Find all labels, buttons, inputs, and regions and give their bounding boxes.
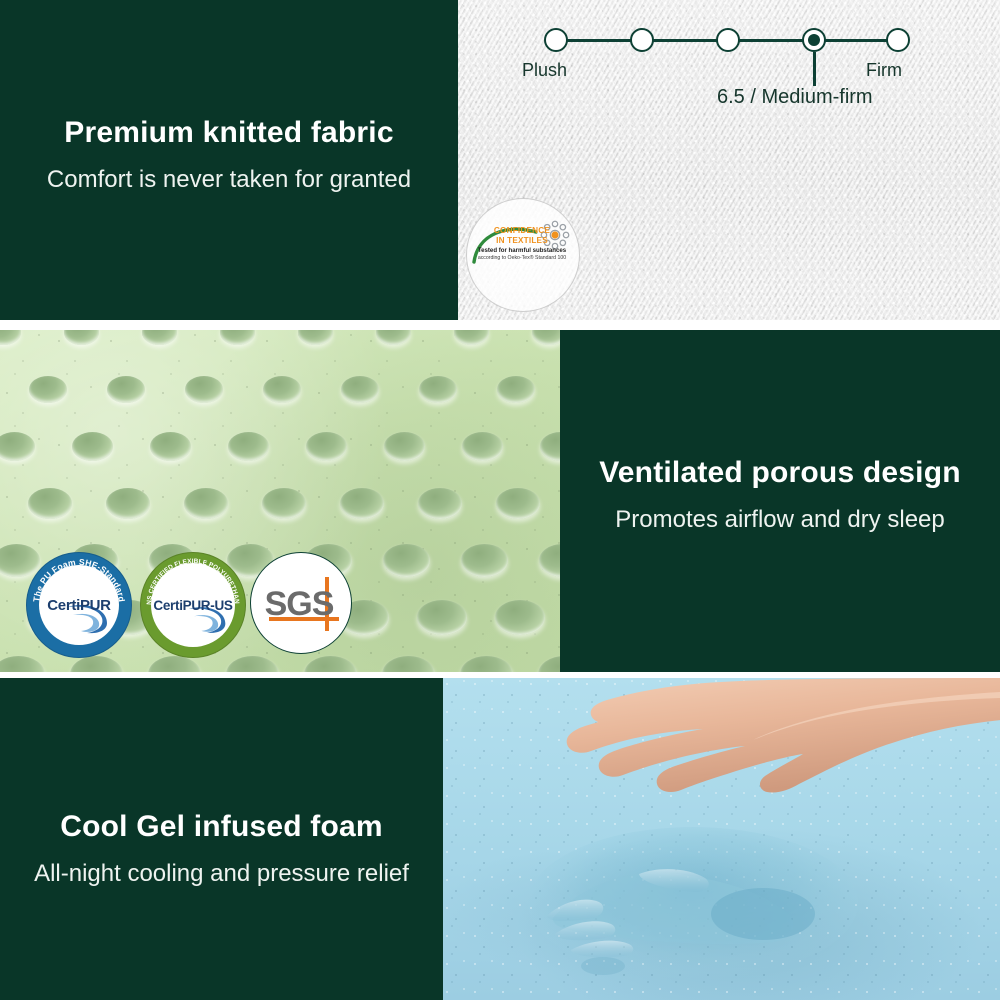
scale-dot-1[interactable] bbox=[544, 28, 568, 52]
foam-hole bbox=[496, 488, 540, 519]
scale-dot-core bbox=[808, 34, 820, 46]
foam-hole bbox=[263, 376, 301, 403]
foam-hole bbox=[382, 656, 435, 672]
foam-hole bbox=[417, 600, 467, 635]
scale-leader-line bbox=[813, 52, 816, 86]
foam-hole bbox=[70, 656, 123, 672]
panel-cool-gel-infused-foam: Cool Gel infused foam All-night cooling … bbox=[0, 678, 1000, 1000]
firmness-scale: Plush Firm 6.5 / Medium-firm bbox=[458, 0, 1000, 120]
fabric-headline: Premium knitted fabric bbox=[64, 116, 393, 149]
scale-label-plush: Plush bbox=[522, 60, 567, 81]
foam-hole bbox=[184, 488, 228, 519]
foam-hole bbox=[72, 432, 113, 461]
foam-hole bbox=[495, 600, 545, 635]
porous-subline: Promotes airflow and dry sleep bbox=[615, 506, 944, 533]
certipur-us-face: CertiPUR-US bbox=[151, 563, 235, 647]
foam-hole bbox=[28, 488, 72, 519]
sgs-mark: SGS bbox=[251, 553, 351, 653]
certipur-badge: The PU Foam SHE-Standard by Europur AISB… bbox=[26, 552, 132, 658]
svg-text:SGS: SGS bbox=[265, 585, 334, 623]
foam-hole bbox=[462, 432, 503, 461]
scale-dot-4-selected[interactable] bbox=[802, 28, 826, 52]
foam-hole bbox=[460, 656, 513, 672]
foam-hole bbox=[142, 330, 177, 345]
porous-headline: Ventilated porous design bbox=[599, 456, 961, 489]
foam-hole bbox=[262, 488, 306, 519]
foam-hole bbox=[226, 656, 279, 672]
scale-dot-3[interactable] bbox=[716, 28, 740, 52]
foam-hole bbox=[106, 488, 150, 519]
foam-hole bbox=[304, 656, 357, 672]
oeko-line-4: according to Oeko-Tex® Standard 100 bbox=[472, 255, 572, 262]
fabric-subline: Comfort is never taken for granted bbox=[47, 166, 411, 193]
gel-subline: All-night cooling and pressure relief bbox=[34, 860, 409, 887]
foam-hole bbox=[384, 432, 425, 461]
foam-hole bbox=[107, 376, 145, 403]
oeko-tex-badge: CONFIDENCE IN TEXTILES Tested for harmfu… bbox=[466, 216, 578, 290]
foam-hole bbox=[539, 544, 560, 577]
foam-hole bbox=[298, 330, 333, 345]
oeko-line-2: IN TEXTILES bbox=[472, 236, 572, 246]
fabric-text-panel: Premium knitted fabric Comfort is never … bbox=[0, 0, 458, 320]
oeko-line-3: Tested for harmful substances bbox=[472, 247, 572, 255]
foam-hole bbox=[376, 330, 411, 345]
foam-hole bbox=[29, 376, 67, 403]
porous-text-panel: Ventilated porous design Promotes airflo… bbox=[560, 330, 1000, 672]
scale-label-firm: Firm bbox=[866, 60, 902, 81]
certipur-wordmark: CertiPUR bbox=[47, 597, 110, 614]
foam-hole bbox=[418, 488, 462, 519]
sgs-badge: SGS bbox=[250, 552, 352, 654]
scale-label-selected: 6.5 / Medium-firm bbox=[717, 86, 873, 109]
certipur-us-wordmark: CertiPUR-US bbox=[153, 598, 232, 613]
foam-hole bbox=[461, 544, 508, 577]
foam-hole bbox=[341, 376, 379, 403]
scale-dot-5[interactable] bbox=[886, 28, 910, 52]
foam-hole bbox=[150, 432, 191, 461]
gel-headline: Cool Gel infused foam bbox=[60, 810, 383, 843]
foam-hole bbox=[228, 432, 269, 461]
oeko-tex-text: CONFIDENCE IN TEXTILES Tested for harmfu… bbox=[472, 226, 572, 282]
blue-gel-foam-hand-photo bbox=[443, 678, 1000, 1000]
hand-imprint-shape bbox=[443, 678, 1000, 1000]
foam-hole bbox=[419, 376, 457, 403]
foam-hole bbox=[340, 488, 384, 519]
foam-hole bbox=[0, 656, 45, 672]
foam-hole bbox=[148, 656, 201, 672]
foam-hole bbox=[64, 330, 99, 345]
foam-hole bbox=[497, 376, 535, 403]
oeko-line-1: CONFIDENCE bbox=[472, 226, 572, 236]
foam-hole bbox=[538, 656, 560, 672]
foam-hole bbox=[306, 432, 347, 461]
foam-hole bbox=[540, 432, 560, 461]
certipur-face: CertiPUR bbox=[39, 565, 119, 645]
foam-hole bbox=[383, 544, 430, 577]
foam-hole bbox=[0, 432, 35, 461]
foam-hole bbox=[185, 376, 223, 403]
gel-text-panel: Cool Gel infused foam All-night cooling … bbox=[0, 678, 443, 1000]
foam-hole bbox=[532, 330, 560, 345]
foam-hole bbox=[454, 330, 489, 345]
foam-hole bbox=[0, 330, 21, 345]
foam-hole bbox=[220, 330, 255, 345]
product-feature-collage: Premium knitted fabric Comfort is never … bbox=[0, 0, 1000, 1000]
scale-dot-2[interactable] bbox=[630, 28, 654, 52]
certipur-us-badge: CONTAINS CERTIFIED FLEXIBLE POLYURETHANE… bbox=[140, 552, 246, 658]
